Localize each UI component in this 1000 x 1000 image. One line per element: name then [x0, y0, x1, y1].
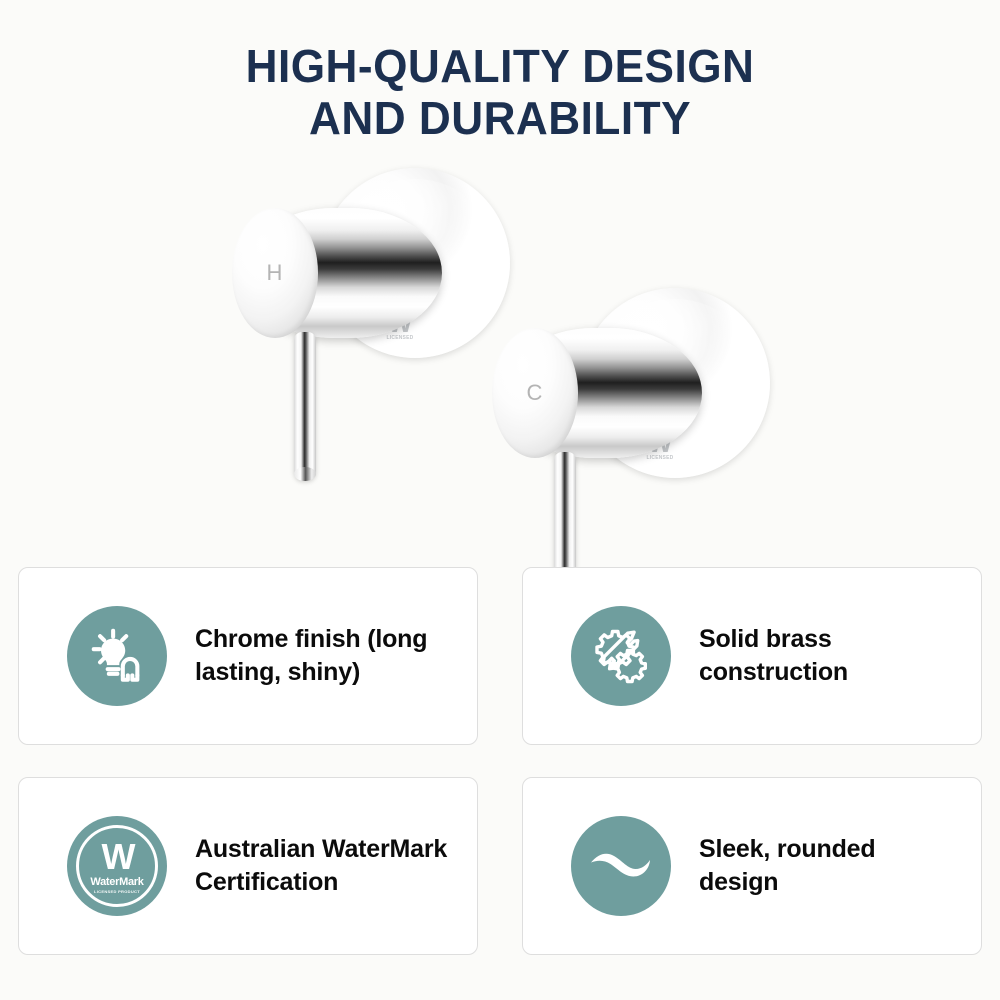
- gears-wrench-icon: [571, 606, 671, 706]
- lightbulb-magnet-icon: [67, 606, 167, 706]
- wave-curve-icon: [571, 816, 671, 916]
- feature-card-solid-brass[interactable]: Solid brass construction: [522, 567, 982, 745]
- watermark-logo: W WaterMark LICENSED PRODUCT: [67, 816, 167, 916]
- knob-cap-hot[interactable]: H: [232, 208, 318, 338]
- feature-label: Australian WaterMark Certification: [195, 833, 453, 899]
- feature-label: Solid brass construction: [699, 623, 957, 689]
- watermark-name: WaterMark: [90, 877, 143, 888]
- product-image: W LICENSED H W LICENSED C: [0, 150, 1000, 610]
- knob-label-cold: C: [527, 380, 544, 406]
- feature-card-sleek-design[interactable]: Sleek, rounded design: [522, 777, 982, 955]
- mixer-tap-hot: W LICENSED H: [220, 160, 500, 490]
- feature-card-watermark-certification[interactable]: W WaterMark LICENSED PRODUCT Australian …: [18, 777, 478, 955]
- title-line-2: AND DURABILITY: [20, 92, 980, 144]
- watermark-certification-icon: W WaterMark LICENSED PRODUCT: [67, 816, 167, 916]
- feature-card-grid: Chrome finish (long lasting, shiny) Soli…: [18, 567, 982, 955]
- watermark-tagline: LICENSED PRODUCT: [94, 890, 140, 894]
- lever-handle-hot[interactable]: [294, 332, 316, 480]
- knob-label-hot: H: [267, 260, 284, 286]
- mixer-tap-cold: W LICENSED C: [480, 280, 760, 610]
- watermark-logo-content: W WaterMark LICENSED PRODUCT: [90, 839, 143, 894]
- plate-watermark-tagline: LICENSED: [370, 336, 430, 341]
- title-line-1: HIGH-QUALITY DESIGN: [20, 40, 980, 92]
- feature-card-chrome-finish[interactable]: Chrome finish (long lasting, shiny): [18, 567, 478, 745]
- knob-cap-cold[interactable]: C: [492, 328, 578, 458]
- watermark-letter: W: [102, 839, 133, 875]
- feature-label: Sleek, rounded design: [699, 833, 957, 899]
- page-title: HIGH-QUALITY DESIGN AND DURABILITY: [0, 40, 1000, 144]
- plate-watermark-tagline: LICENSED: [630, 456, 690, 461]
- feature-label: Chrome finish (long lasting, shiny): [195, 623, 453, 689]
